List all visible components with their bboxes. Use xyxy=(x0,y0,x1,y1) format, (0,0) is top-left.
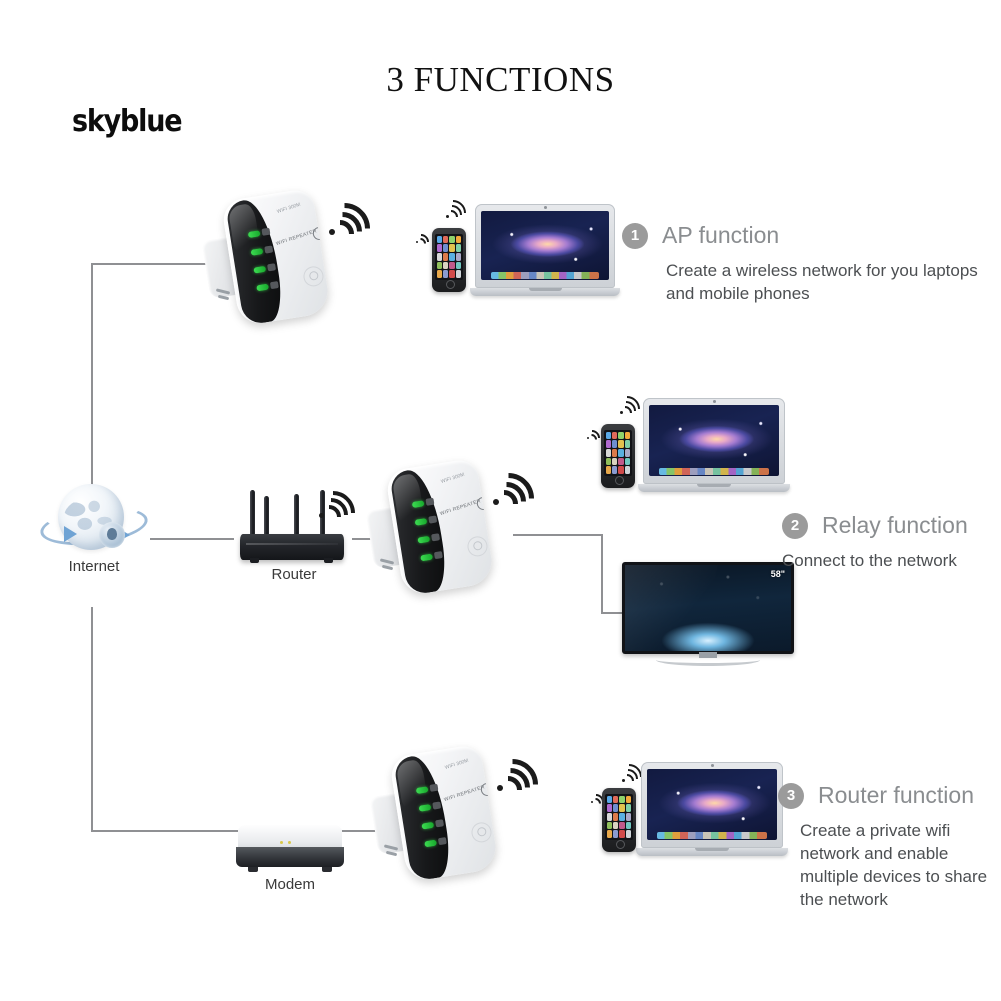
infographic-page: 3 FUNCTIONS skyblue Internet xyxy=(0,0,1001,1001)
wifi-repeater-relay: WIFI REPEATER WIFI 300M xyxy=(368,456,516,606)
repeater-led-glyph-router-2 xyxy=(432,801,441,809)
function-description-router: Create a private wifi network and enable… xyxy=(800,819,996,911)
phone-relay xyxy=(601,424,635,488)
laptop-dock-router xyxy=(657,832,766,839)
repeater-led-glyph-ap-3 xyxy=(267,263,276,271)
wifi-repeater-ap: WIFI REPEATER WIFI 300M xyxy=(204,186,352,336)
repeater-top-label-router: WIFI 300M xyxy=(444,758,469,771)
laptop-lid-ap xyxy=(475,204,615,288)
router-foot-left xyxy=(250,558,259,563)
laptop-base-router xyxy=(636,848,788,856)
laptop-notch-relay xyxy=(697,484,730,487)
connector-repeater2-to-tv-a xyxy=(513,534,603,536)
laptop-lid-router xyxy=(641,762,783,848)
repeater-led-glyph-ap-4 xyxy=(270,281,279,289)
function-heading-router: 3 Router function xyxy=(778,782,993,809)
laptop-screen-router xyxy=(647,769,777,840)
repeater-led-glyph-relay-3 xyxy=(431,533,440,541)
function-number-badge-router: 3 xyxy=(778,783,804,809)
repeater-led-glyph-relay-1 xyxy=(425,498,434,506)
phone-screen-router xyxy=(605,794,634,840)
function-number-badge-ap: 1 xyxy=(622,223,648,249)
function-block-router: 3 Router function Create a private wifi … xyxy=(778,782,993,911)
router-label: Router xyxy=(232,566,356,583)
laptop-dock-relay xyxy=(659,468,768,475)
modem-led-1 xyxy=(280,841,283,844)
client-wifi-icon-ap-laptop xyxy=(444,200,470,222)
tv-frame: 58" xyxy=(622,562,794,654)
repeater-top-label-ap: WIFI 300M xyxy=(276,202,301,215)
laptop-camera-router xyxy=(711,764,714,767)
repeater-wps-button-ap[interactable] xyxy=(301,264,326,289)
repeater-led-glyph-ap-2 xyxy=(264,245,273,253)
modem-chassis xyxy=(236,847,344,867)
internet-node: Internet xyxy=(36,478,152,588)
globe-badge-icon xyxy=(99,522,125,548)
repeater-led-glyph-relay-4 xyxy=(434,551,443,559)
tv-stand xyxy=(656,654,760,666)
laptop-router xyxy=(636,762,788,860)
repeater-wifi-icon-router xyxy=(494,756,546,800)
connector-internet-to-router xyxy=(150,538,234,540)
phone-ap xyxy=(432,228,466,292)
phone-screen-ap xyxy=(435,234,464,280)
function-block-ap: 1 AP function Create a wireless network … xyxy=(622,222,982,305)
phone-router xyxy=(602,788,636,852)
brand-watermark: skyblue xyxy=(72,104,181,139)
modem-led-2 xyxy=(288,841,291,844)
function-number-badge-relay: 2 xyxy=(782,513,808,539)
repeater-led-glyph-router-1 xyxy=(429,784,438,792)
repeater-led-glyph-router-4 xyxy=(438,837,447,845)
tv-screen-glare xyxy=(625,565,720,651)
laptop-ap xyxy=(470,204,620,300)
function-description-ap: Create a wireless network for you laptop… xyxy=(666,259,984,305)
connector-internet-to-modem xyxy=(91,607,93,832)
connector-ap-top xyxy=(91,263,209,265)
function-heading-ap: 1 AP function xyxy=(622,222,982,249)
laptop-notch-router xyxy=(695,848,728,851)
function-title-router: Router function xyxy=(818,782,974,809)
repeater-top-label-relay: WIFI 300M xyxy=(440,472,465,485)
function-title-relay: Relay function xyxy=(822,512,968,539)
repeater-body-router: WIFI REPEATER WIFI 300M xyxy=(389,744,500,883)
repeater-body-relay: WIFI REPEATER WIFI 300M xyxy=(385,458,496,597)
connector-modem-bottom xyxy=(91,830,241,832)
repeater-wifi-icon-relay xyxy=(490,470,542,514)
laptop-screen-ap xyxy=(481,211,609,280)
phone-home-button-relay[interactable] xyxy=(615,476,624,485)
router-foot-right xyxy=(324,558,333,563)
laptop-base-relay xyxy=(638,484,790,492)
laptop-notch-ap xyxy=(529,288,562,291)
repeater-wps-button-router[interactable] xyxy=(469,820,494,845)
function-description-relay: Connect to the network xyxy=(782,549,1001,572)
modem-foot-right xyxy=(322,867,332,872)
function-heading-relay: 2 Relay function xyxy=(782,512,994,539)
client-wifi-icon-ap-phone xyxy=(415,232,432,246)
connector-repeater2-to-tv-b xyxy=(601,534,603,614)
laptop-lid-relay xyxy=(643,398,785,484)
internet-label: Internet xyxy=(36,558,152,575)
repeater-wps-button-relay[interactable] xyxy=(465,534,490,559)
laptop-base-ap xyxy=(470,288,620,296)
modem-foot-left xyxy=(248,867,258,872)
laptop-relay xyxy=(638,398,790,496)
repeater-body-ap: WIFI REPEATER WIFI 300M xyxy=(221,188,332,327)
tv-node: 58" xyxy=(622,562,794,666)
laptop-camera-ap xyxy=(544,206,547,209)
page-title: 3 FUNCTIONS xyxy=(0,60,1001,100)
wifi-repeater-router: WIFI REPEATER WIFI 300M xyxy=(372,742,520,892)
modem-label: Modem xyxy=(232,876,348,893)
laptop-camera-relay xyxy=(713,400,716,403)
function-title-ap: AP function xyxy=(662,222,779,249)
phone-home-button-router[interactable] xyxy=(616,840,625,849)
modem-node: Modem xyxy=(232,820,348,902)
repeater-led-glyph-relay-2 xyxy=(428,515,437,523)
phone-screen-relay xyxy=(604,430,633,476)
repeater-led-glyph-ap-1 xyxy=(261,228,270,236)
globe-arrow-left-icon xyxy=(64,526,77,542)
function-block-relay: 2 Relay function Connect to the network xyxy=(782,512,994,572)
router-node: Router xyxy=(232,486,356,594)
repeater-wifi-icon-ap xyxy=(326,200,378,244)
router-chassis xyxy=(240,534,344,560)
tv-screen: 58" xyxy=(625,565,791,651)
router-wifi-icon xyxy=(316,488,362,526)
phone-home-button-ap[interactable] xyxy=(446,280,455,289)
laptop-dock-ap xyxy=(491,272,599,279)
repeater-led-glyph-router-3 xyxy=(435,819,444,827)
laptop-screen-relay xyxy=(649,405,779,476)
